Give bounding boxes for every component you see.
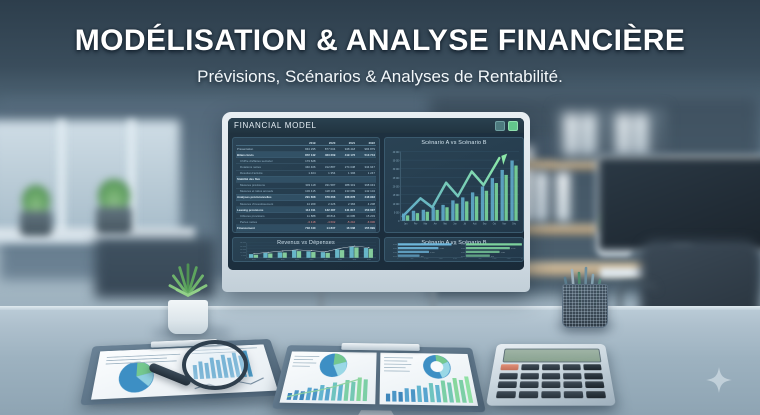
poster-header: MODÉLISATION & ANALYSE FINANCIÈRE Prévis… (0, 0, 760, 87)
svg-text:Fév: Fév (414, 224, 418, 226)
svg-text:5 000: 5 000 (241, 255, 246, 256)
magnifier-lens-icon (182, 340, 248, 390)
svg-text:1 540: 1 540 (511, 248, 516, 249)
svg-text:20 000: 20 000 (240, 246, 246, 247)
calculator-key[interactable] (496, 391, 517, 398)
calculator-key-equals[interactable] (585, 391, 606, 398)
monitor-bezel: FINANCIAL MODEL 2019202020212022 Présent… (228, 118, 524, 270)
svg-text:1 000: 1 000 (424, 258, 428, 259)
calculator-key[interactable] (519, 391, 539, 398)
svg-text:1 880: 1 880 (453, 244, 458, 245)
calculator-display (502, 349, 601, 363)
dashboard-screen: FINANCIAL MODEL 2019202020212022 Présent… (228, 118, 524, 270)
svg-text:Jul: Jul (464, 224, 467, 226)
svg-text:25 000: 25 000 (240, 243, 246, 244)
svg-text:40 000: 40 000 (393, 152, 400, 154)
report-page-right (380, 353, 479, 406)
svg-text:2014: 2014 (252, 259, 256, 260)
calculator-keypad[interactable] (496, 364, 606, 398)
svg-text:2022: 2022 (461, 244, 465, 245)
poster-root: FINANCIAL MODEL 2019202020212022 Présent… (0, 0, 760, 415)
svg-text:Nov: Nov (502, 224, 507, 226)
calculator-key[interactable] (563, 391, 583, 398)
svg-text:35 000: 35 000 (393, 160, 400, 162)
binder-shelf-icon (556, 108, 666, 158)
svg-text:25 000: 25 000 (393, 178, 400, 180)
svg-text:2020: 2020 (461, 252, 465, 253)
svg-text:5 000: 5 000 (394, 212, 400, 214)
svg-text:20 000: 20 000 (393, 186, 400, 188)
page-subtitle: Prévisions, Scénarios & Analyses de Rent… (0, 67, 760, 87)
svg-text:Déc: Déc (512, 224, 517, 226)
panel-scenario-compare[interactable]: Scénario A vs Scénario B 20221 88020211 … (384, 237, 524, 262)
minimize-icon[interactable] (495, 121, 505, 131)
svg-text:15 000: 15 000 (240, 249, 246, 250)
svg-text:Avr: Avr (434, 222, 437, 225)
svg-text:2017: 2017 (295, 259, 299, 260)
pencil-cup[interactable] (562, 262, 606, 328)
calculator-key[interactable] (563, 372, 582, 378)
cup-mesh (563, 285, 607, 327)
cup-body (562, 284, 608, 328)
dashboard-grid: 2019202020212022 Présentation843 295877 … (228, 133, 524, 266)
report-pie-bars-icon (279, 351, 376, 404)
calculator-key[interactable] (520, 372, 539, 378)
table-cell: 3 419 (297, 231, 317, 233)
calculator-key[interactable] (542, 372, 561, 378)
window-mullion (58, 120, 65, 235)
calculator-key[interactable] (541, 381, 560, 388)
svg-text:Jan: Jan (404, 224, 408, 226)
calculator-key[interactable] (542, 364, 560, 370)
window-controls (495, 121, 518, 131)
svg-text:2022: 2022 (393, 244, 397, 245)
svg-text:1 000: 1 000 (492, 258, 496, 259)
svg-text:2020: 2020 (393, 252, 397, 253)
monitor-chin (222, 270, 530, 292)
window-plant-icon (20, 188, 52, 236)
svg-text:2019: 2019 (461, 256, 465, 257)
svg-text:0: 0 (245, 258, 246, 259)
calculator-key[interactable] (562, 364, 581, 370)
dashboard-titlebar: FINANCIAL MODEL (228, 118, 524, 133)
panel-scenario-trend[interactable]: Scénario A vs Scénario B 40 00035 00030 … (384, 137, 524, 233)
calculator-key-clear[interactable] (500, 364, 519, 370)
scenario-compare-chart: 20221 88020211 42020201 090201976005001 … (385, 238, 523, 261)
calculator-key[interactable] (584, 372, 603, 378)
svg-text:0: 0 (398, 221, 400, 223)
svg-text:1 090: 1 090 (430, 252, 435, 253)
svg-text:0: 0 (465, 258, 466, 259)
panel-revenue-expense[interactable]: Revenus vs Dépenses 25 00020 00015 00010… (232, 237, 380, 262)
calculator-key[interactable] (563, 381, 583, 388)
primary-monitor: FINANCIAL MODEL 2019202020212022 Présent… (222, 112, 530, 292)
svg-text:2021: 2021 (353, 259, 357, 260)
maximize-icon[interactable] (508, 121, 518, 131)
table-row[interactable]: Dettes moyen3 4193 8131 5623 044 (236, 231, 376, 233)
clipboard-clip (341, 343, 420, 351)
table-cell: 3 813 (317, 231, 337, 233)
svg-text:30 000: 30 000 (393, 169, 400, 171)
svg-text:Oct: Oct (493, 222, 497, 225)
page-title: MODÉLISATION & ANALYSE FINANCIÈRE (0, 24, 760, 58)
financial-table: 2019202020212022 Présentation843 295877 … (236, 140, 376, 233)
svg-text:10 000: 10 000 (240, 252, 246, 253)
svg-text:Aoû: Aoû (473, 222, 477, 225)
svg-text:2 000: 2 000 (453, 258, 457, 259)
table-cell: 3 044 (356, 231, 376, 233)
calculator[interactable] (486, 344, 616, 406)
table-body: Présentation843 295877 004948 418984 879… (236, 146, 376, 233)
calculator-key[interactable] (521, 364, 540, 370)
desk-edge (0, 306, 760, 310)
svg-text:1 180: 1 180 (501, 252, 506, 253)
svg-text:2 000: 2 000 (521, 258, 523, 259)
svg-text:2021: 2021 (461, 248, 465, 249)
svg-text:2016: 2016 (281, 259, 285, 260)
svg-text:500: 500 (411, 258, 414, 259)
revenue-expense-chart: 25 00020 00015 00010 0005 00002014201520… (233, 238, 379, 261)
panel-financial-table[interactable]: 2019202020212022 Présentation843 295877 … (232, 137, 380, 233)
svg-text:Jun: Jun (453, 224, 457, 226)
report-page-left (279, 351, 376, 404)
svg-text:15 000: 15 000 (393, 195, 400, 197)
sparkle-icon (706, 367, 732, 393)
svg-text:Mai: Mai (443, 224, 447, 226)
secondary-monitor (596, 155, 760, 253)
calculator-key[interactable] (583, 364, 602, 370)
dashboard-title: FINANCIAL MODEL (234, 121, 317, 130)
clipboard-center[interactable] (272, 345, 486, 412)
table-cell: Dettes moyen (236, 231, 297, 233)
svg-text:500: 500 (479, 258, 482, 259)
desk-plant (160, 262, 216, 334)
svg-text:Mar: Mar (424, 224, 428, 226)
svg-text:2022: 2022 (367, 259, 371, 260)
scenario-trend-chart: 40 00035 00030 00025 00020 00015 00010 0… (385, 138, 523, 232)
svg-text:2019: 2019 (393, 256, 397, 257)
window-plant-icon (96, 182, 132, 234)
svg-text:2018: 2018 (310, 259, 314, 260)
calculator-key[interactable] (519, 381, 539, 388)
svg-text:10 000: 10 000 (393, 204, 400, 206)
svg-text:1 500: 1 500 (507, 258, 511, 259)
table-cell: 1 562 (336, 231, 356, 233)
svg-text:1 500: 1 500 (439, 258, 443, 259)
svg-text:2015: 2015 (266, 259, 270, 260)
svg-text:2020: 2020 (338, 259, 342, 260)
calculator-key[interactable] (585, 381, 605, 388)
svg-text:2019: 2019 (324, 259, 328, 260)
calculator-key[interactable] (499, 372, 518, 378)
calculator-key[interactable] (541, 391, 561, 398)
svg-text:840: 840 (491, 256, 494, 257)
svg-text:1 420: 1 420 (440, 248, 445, 249)
svg-text:760: 760 (421, 256, 424, 257)
plant-pot (168, 300, 208, 334)
svg-text:0: 0 (397, 258, 398, 259)
svg-text:2021: 2021 (393, 248, 397, 249)
svg-text:Sep: Sep (483, 224, 487, 226)
calculator-key[interactable] (498, 381, 518, 388)
report-donut-bars-icon (380, 353, 479, 406)
